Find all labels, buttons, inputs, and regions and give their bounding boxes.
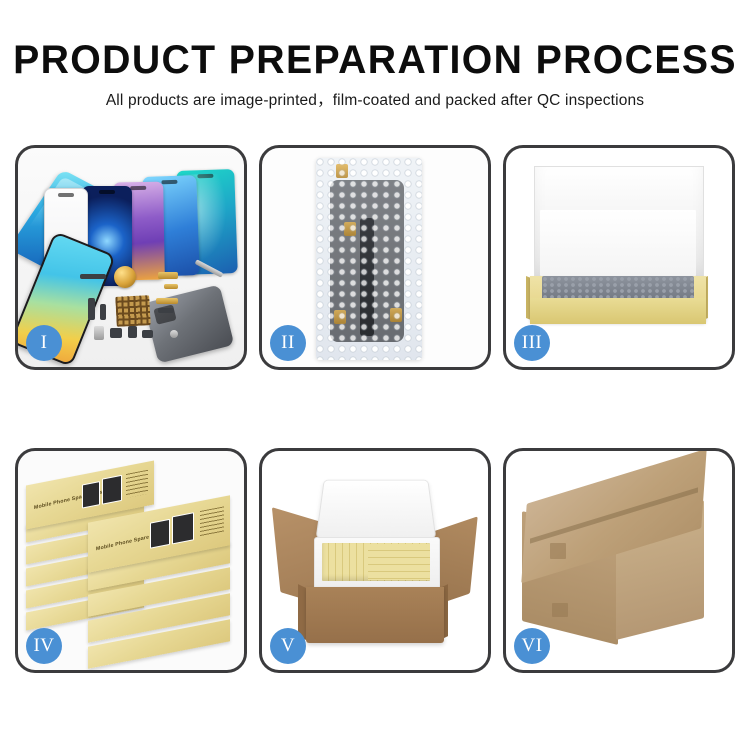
carton-tape-graphic bbox=[552, 603, 568, 617]
process-step-1[interactable]: I bbox=[15, 145, 247, 370]
gold-contact-graphic bbox=[390, 308, 402, 322]
process-step-3[interactable]: III bbox=[503, 145, 735, 370]
header: PRODUCT PREPARATION PROCESS All products… bbox=[0, 38, 750, 111]
yellow-boxes-graphic bbox=[368, 544, 430, 580]
gold-contact-graphic bbox=[334, 310, 346, 324]
step-badge-4: IV bbox=[26, 628, 62, 664]
component-graphic bbox=[170, 330, 178, 338]
box-label-thumb bbox=[102, 475, 122, 505]
box-label-specs bbox=[200, 506, 224, 537]
component-graphic bbox=[94, 326, 104, 340]
notch-icon bbox=[161, 180, 177, 184]
component-graphic bbox=[156, 298, 178, 304]
gold-contact-graphic bbox=[336, 164, 348, 178]
component-graphic bbox=[80, 274, 106, 279]
foam-sheet-graphic bbox=[540, 210, 696, 276]
step-badge-3: III bbox=[514, 325, 550, 361]
component-graphic bbox=[100, 304, 106, 320]
process-step-6[interactable]: VI bbox=[503, 448, 735, 673]
speaker-coil-graphic bbox=[114, 266, 136, 288]
labelled-box-graphic: Mobile Phone Spare Parts bbox=[88, 509, 230, 559]
stacked-box-graphic bbox=[88, 633, 230, 655]
step-badge-5: V bbox=[270, 628, 306, 664]
box-label-specs bbox=[126, 470, 148, 498]
component-graphic bbox=[88, 298, 95, 320]
notch-icon bbox=[130, 186, 146, 190]
chip-grid-graphic bbox=[115, 295, 151, 327]
component-graphic bbox=[158, 308, 174, 313]
box-label-thumb bbox=[82, 481, 100, 508]
process-step-2[interactable]: II bbox=[259, 145, 491, 370]
notch-icon bbox=[197, 174, 213, 178]
component-graphic bbox=[110, 328, 122, 338]
notch-icon bbox=[58, 193, 74, 197]
notch-icon bbox=[99, 190, 115, 194]
foam-lid-graphic bbox=[316, 480, 437, 539]
bubble-wrap-bag-graphic bbox=[316, 158, 422, 360]
carton-tape-graphic bbox=[550, 543, 566, 559]
component-graphic bbox=[128, 326, 137, 338]
component-graphic bbox=[164, 284, 178, 289]
product-preparation-infographic: PRODUCT PREPARATION PROCESS All products… bbox=[0, 0, 750, 750]
component-graphic bbox=[142, 330, 153, 338]
gold-contact-graphic bbox=[344, 222, 356, 236]
flex-cable-graphic bbox=[360, 218, 374, 336]
phone-housing-graphic bbox=[144, 284, 235, 363]
page-subtitle: All products are image-printed，film-coat… bbox=[0, 91, 750, 111]
box-label-thumb bbox=[172, 512, 194, 544]
process-step-5[interactable]: V bbox=[259, 448, 491, 673]
step-badge-6: VI bbox=[514, 628, 550, 664]
carton-body-graphic bbox=[306, 587, 444, 643]
box-label-thumb bbox=[150, 519, 170, 549]
process-step-4[interactable]: Mobile Phone Spare Parts Mobile Phone Sp… bbox=[15, 448, 247, 673]
page-title: PRODUCT PREPARATION PROCESS bbox=[8, 38, 743, 82]
component-graphic bbox=[158, 272, 178, 279]
step-badge-2: II bbox=[270, 325, 306, 361]
process-step-grid: I II bbox=[15, 145, 735, 673]
step-badge-1: I bbox=[26, 325, 62, 361]
box-front-panel-graphic bbox=[530, 298, 706, 324]
